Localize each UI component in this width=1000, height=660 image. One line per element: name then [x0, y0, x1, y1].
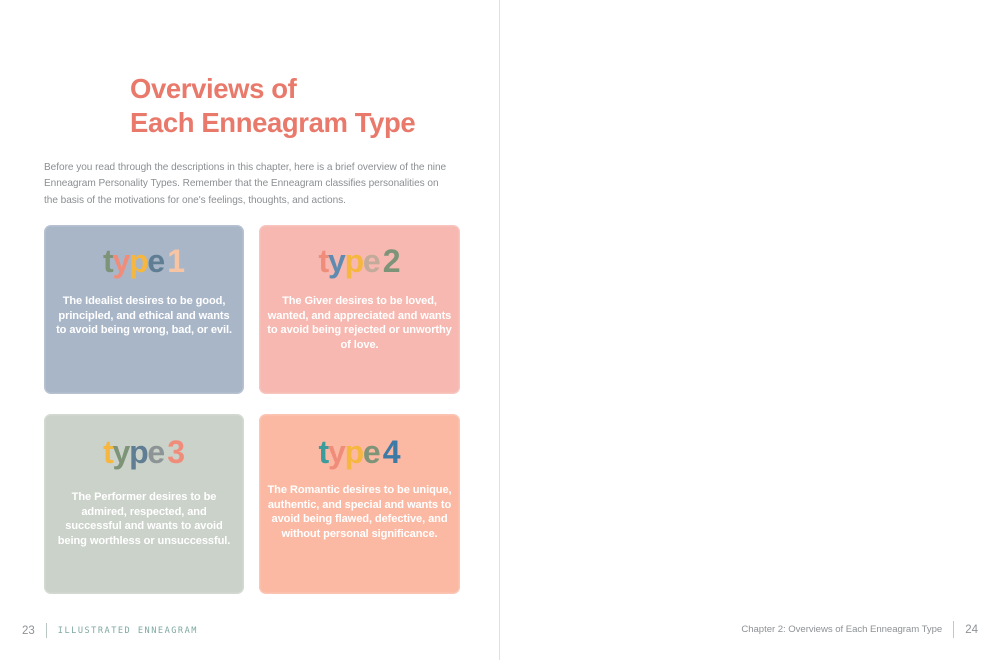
type-2-letter-y: y — [328, 245, 345, 277]
type-card-3: type3 The Performer desires to be admire… — [44, 414, 244, 594]
type-3-letter-t: t — [103, 436, 112, 468]
type-4-number: 4 — [383, 436, 401, 468]
type-card-2: type2 The Giver desires to be loved, wan… — [259, 225, 460, 394]
right-page-footer: Chapter 2: Overviews of Each Enneagram T… — [741, 621, 978, 638]
type-1-letter-t: t — [103, 245, 112, 277]
type-1-description: The Idealist desires to be good, princip… — [44, 294, 244, 338]
type-3-letter-p: p — [129, 436, 147, 468]
type-4-description: The Romantic desires to be unique, authe… — [259, 483, 460, 541]
type-1-wordmark: type1 — [44, 245, 244, 277]
page-title-line-1: Overviews of — [130, 73, 296, 104]
type-3-number: 3 — [167, 436, 185, 468]
page-title-line-2: Each Enneagram Type — [130, 106, 460, 140]
footer-divider — [46, 623, 47, 638]
type-3-description: The Performer desires to be admired, res… — [44, 490, 244, 548]
type-card-4: type4 The Romantic desires to be unique,… — [259, 414, 460, 594]
right-page-number: 24 — [965, 624, 978, 636]
page-title: Overviews of Each Enneagram Type — [130, 72, 460, 139]
type-4-letter-e: e — [363, 436, 380, 468]
intro-paragraph: Before you read through the descriptions… — [44, 160, 454, 209]
footer-divider — [953, 621, 954, 638]
type-1-letter-e: e — [147, 245, 164, 277]
book-title-footer: ILLUSTRATED ENNEAGRAM — [58, 626, 198, 636]
type-3-letter-e: e — [147, 436, 164, 468]
type-1-letter-y: y — [112, 245, 129, 277]
type-4-letter-y: y — [328, 436, 345, 468]
type-2-number: 2 — [383, 245, 401, 277]
type-card-1: type1 The Idealist desires to be good, p… — [44, 225, 244, 394]
book-spread: Overviews of Each Enneagram Type Before … — [0, 0, 1000, 660]
type-4-letter-t: t — [318, 436, 327, 468]
type-1-number: 1 — [167, 245, 185, 277]
type-2-letter-e: e — [363, 245, 380, 277]
type-2-wordmark: type2 — [259, 245, 460, 277]
chapter-title-footer: Chapter 2: Overviews of Each Enneagram T… — [741, 624, 942, 635]
right-page: type5 The Observer desires to be compete… — [500, 0, 1000, 660]
type-4-letter-p: p — [345, 436, 363, 468]
type-3-wordmark: type3 — [44, 436, 244, 468]
type-2-description: The Giver desires to be loved, wanted, a… — [259, 294, 460, 352]
type-3-letter-y: y — [112, 436, 129, 468]
type-1-letter-p: p — [129, 245, 147, 277]
type-4-wordmark: type4 — [259, 436, 460, 468]
left-page-footer: 23 ILLUSTRATED ENNEAGRAM — [22, 623, 198, 638]
type-2-letter-t: t — [318, 245, 327, 277]
left-page-number: 23 — [22, 625, 35, 637]
type-2-letter-p: p — [345, 245, 363, 277]
left-page: Overviews of Each Enneagram Type Before … — [0, 0, 500, 660]
